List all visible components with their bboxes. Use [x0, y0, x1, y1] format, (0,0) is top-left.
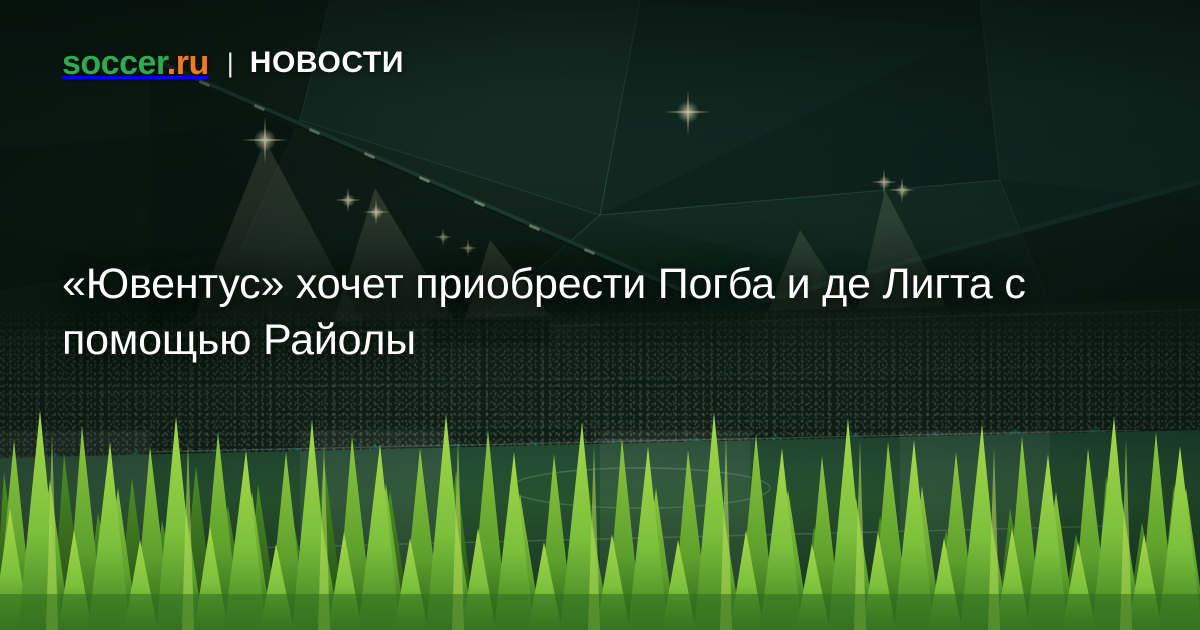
site-logo[interactable]: soccer.ru — [62, 46, 209, 80]
masthead: soccer.ru | НОВОСТИ — [62, 46, 404, 80]
logo-word-soccer: soccer — [62, 44, 167, 82]
logo-word-ru: .ru — [167, 44, 209, 82]
foreground-grass — [0, 380, 1200, 630]
article-headline: «Ювентус» хочет приобрести Погба и де Ли… — [62, 256, 1062, 368]
news-share-card: soccer.ru | НОВОСТИ «Ювентус» хочет прио… — [0, 0, 1200, 630]
section-label-news: НОВОСТИ — [250, 48, 404, 78]
masthead-separator: | — [227, 50, 234, 77]
